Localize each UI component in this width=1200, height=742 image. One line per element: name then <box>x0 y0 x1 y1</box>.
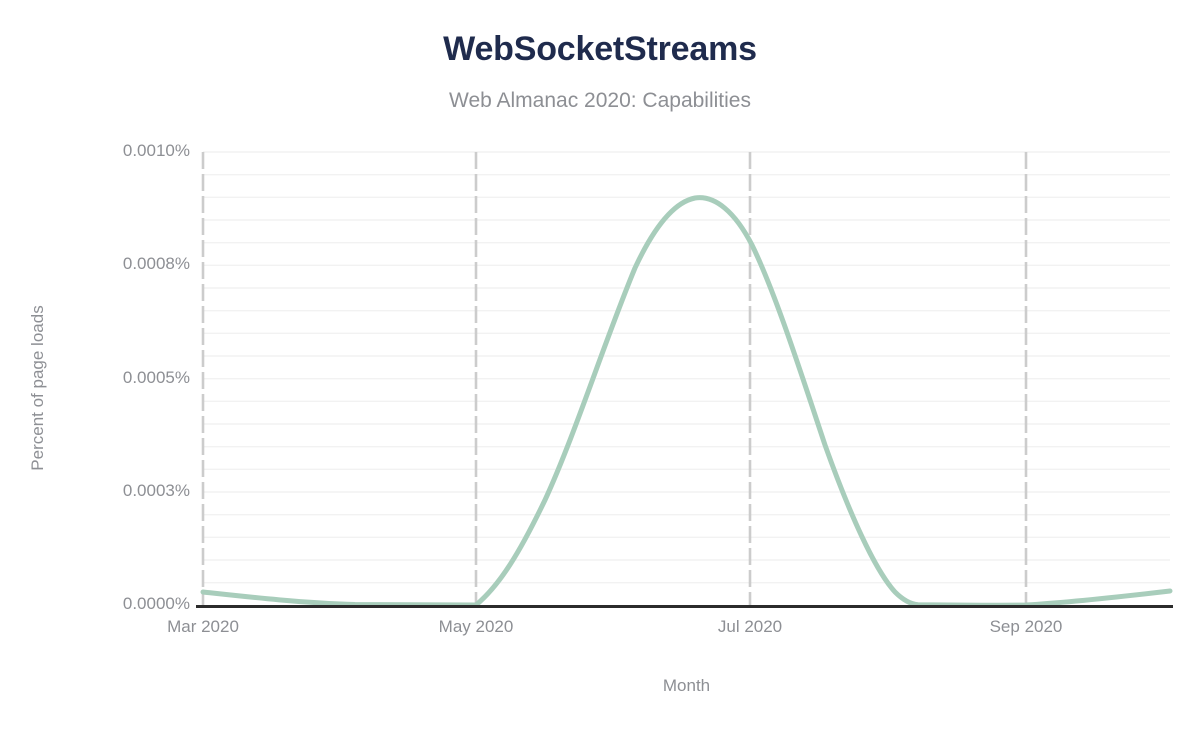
chart-container: WebSocketStreams Web Almanac 2020: Capab… <box>0 0 1200 742</box>
x-tick-label-mar-2020: Mar 2020 <box>103 617 303 637</box>
x-axis-title: Month <box>203 676 1170 696</box>
x-tick-label-jul-2020: Jul 2020 <box>650 617 850 637</box>
x-tick-label-may-2020: May 2020 <box>376 617 576 637</box>
y-axis-title: Percent of page loads <box>28 288 48 488</box>
y-tick-label: 0.0010% <box>70 141 190 161</box>
x-tick-label-sep-2020: Sep 2020 <box>926 617 1126 637</box>
y-tick-label: 0.0000% <box>70 594 190 614</box>
y-tick-label: 0.0005% <box>70 368 190 388</box>
y-tick-label: 0.0003% <box>70 481 190 501</box>
y-tick-label: 0.0008% <box>70 254 190 274</box>
